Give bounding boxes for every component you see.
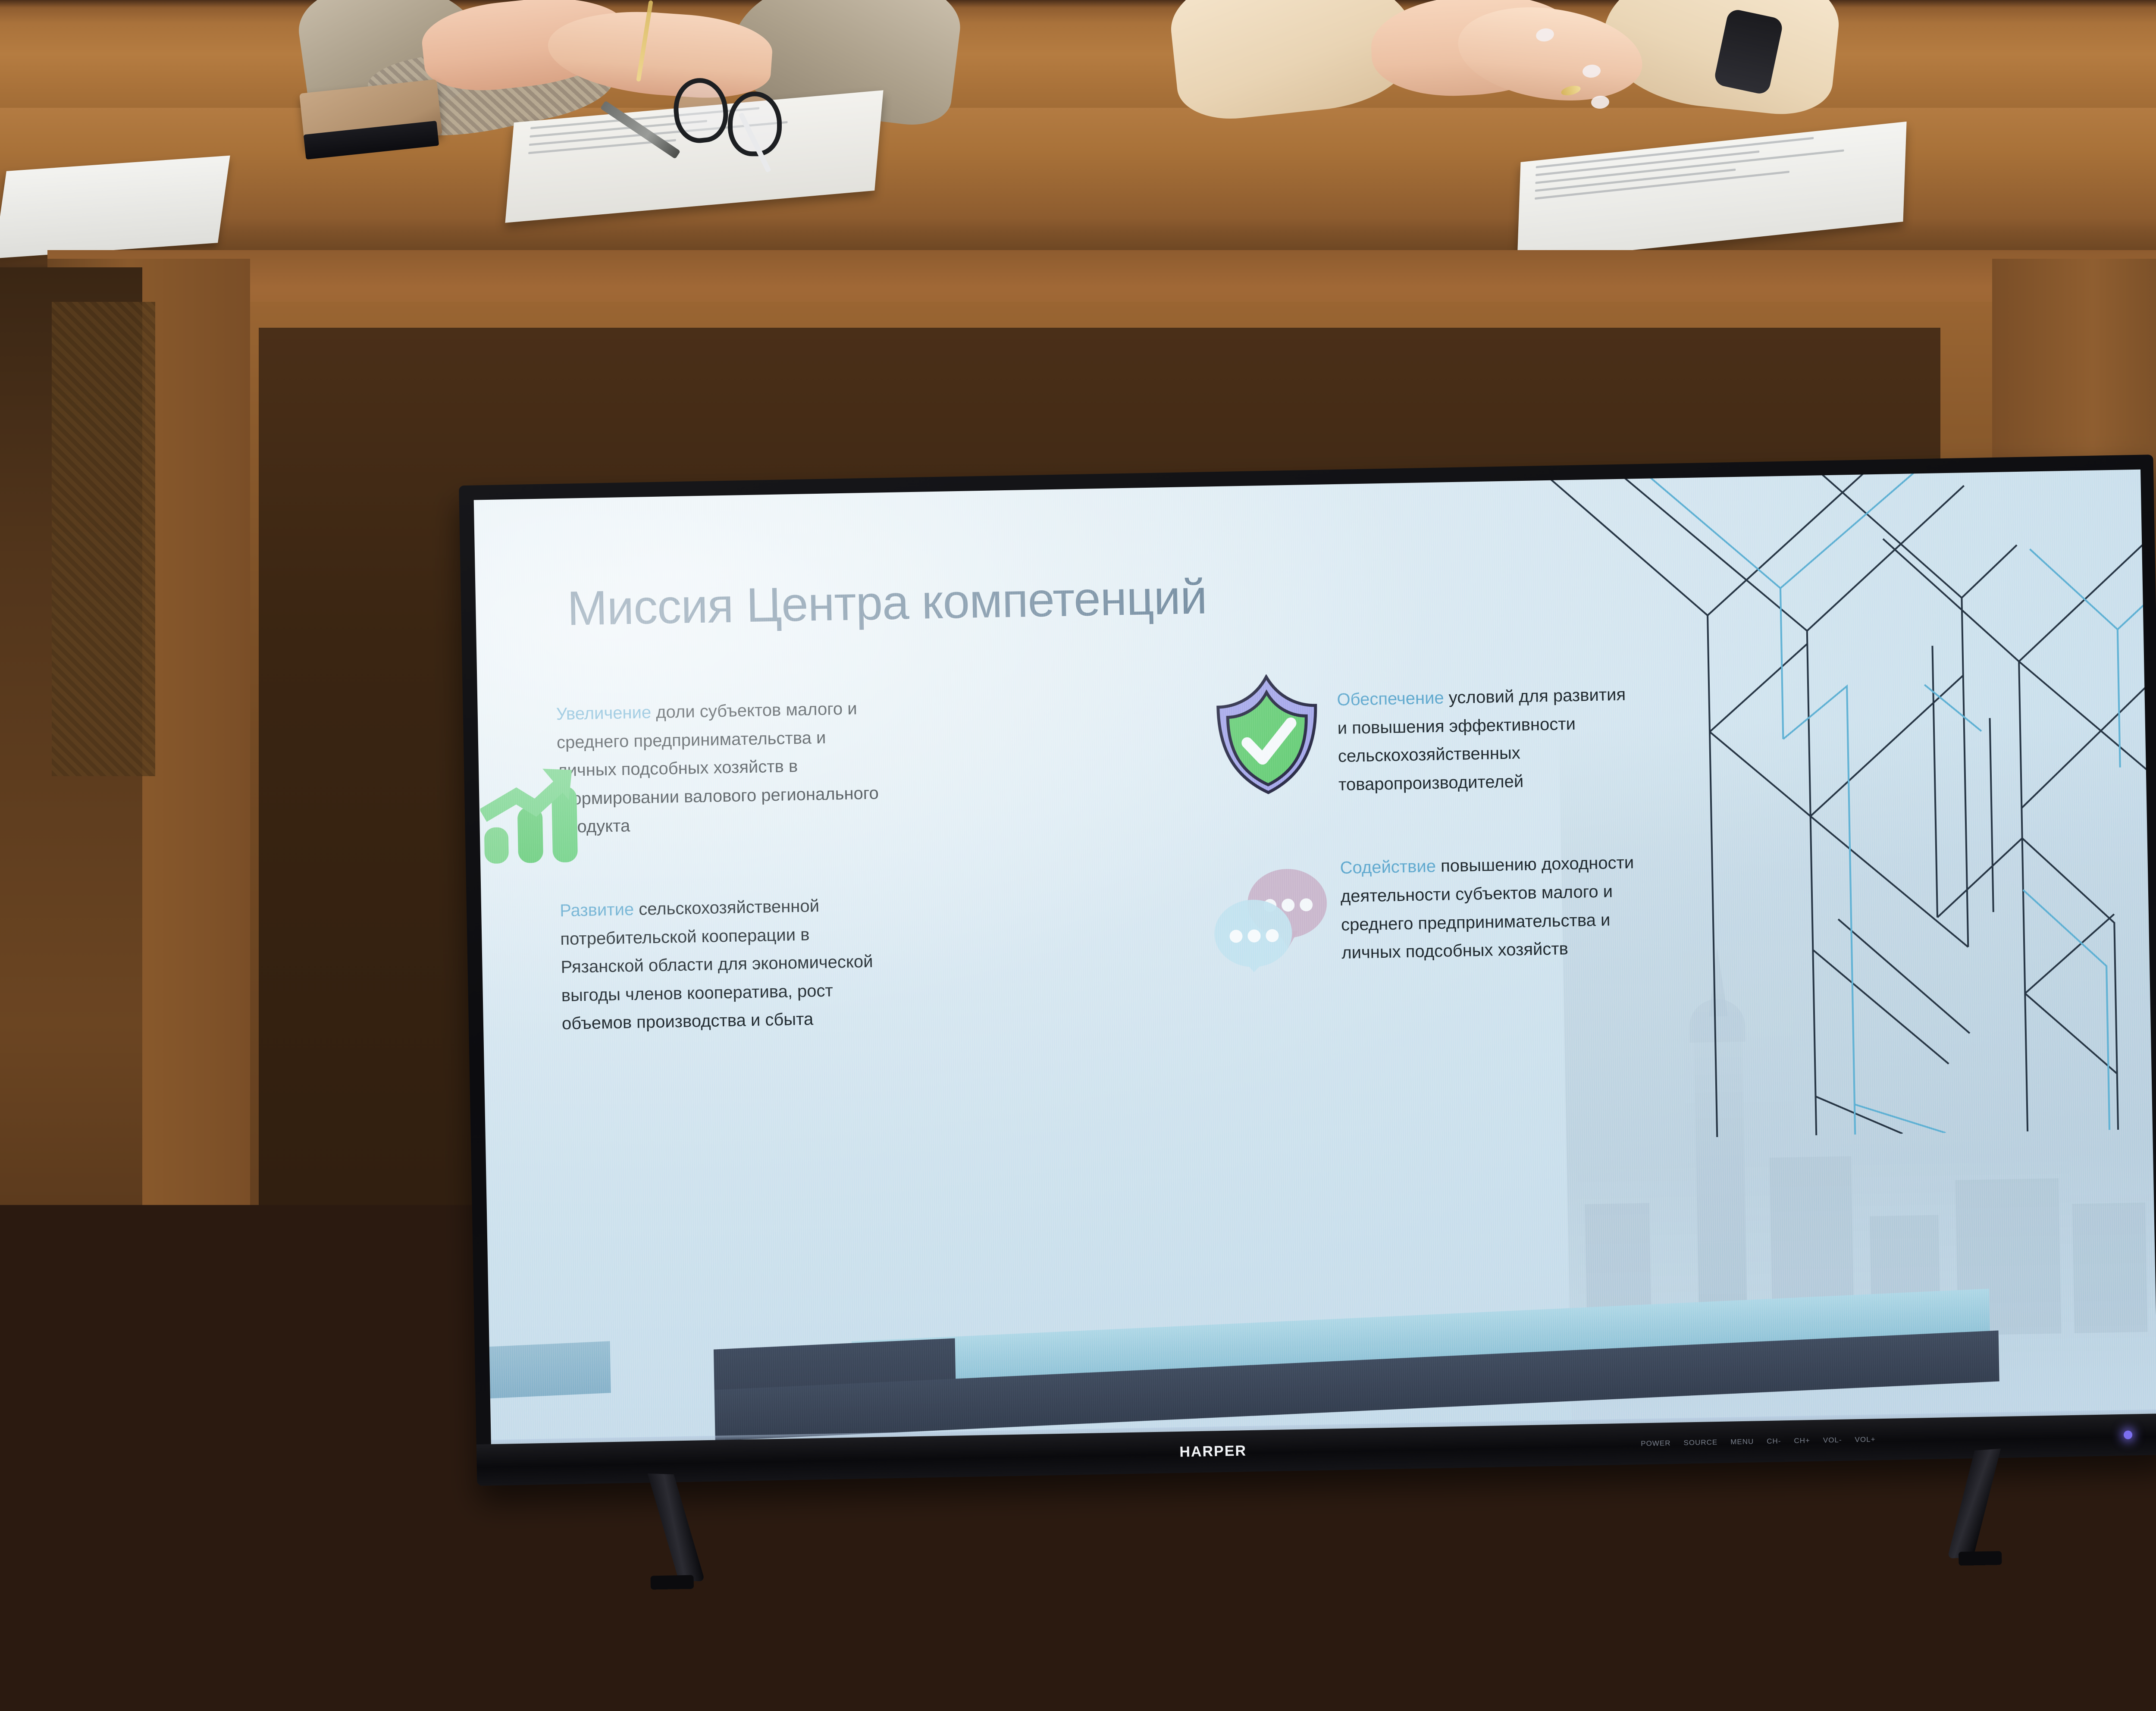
tv-control-vol-up[interactable]: VOL+ (1855, 1435, 1875, 1444)
tv-control-labels[interactable]: POWER SOURCE MENU CH- CH+ VOL- VOL+ (1641, 1435, 1876, 1448)
chat-bubbles-icon (1213, 863, 1331, 973)
television: Миссия Центра компетенций (459, 454, 2156, 1486)
floor-plank-seam (0, 1509, 2156, 1512)
tv-control-ch-up[interactable]: CH+ (1794, 1436, 1810, 1445)
tv-control-menu[interactable]: MENU (1730, 1438, 1754, 1447)
bullet-block-increase: Увеличение доли субъектов малого и средн… (556, 686, 1313, 842)
tv-control-vol-down[interactable]: VOL- (1823, 1436, 1842, 1445)
tv-control-source[interactable]: SOURCE (1683, 1438, 1717, 1447)
bullet-text-increase: Увеличение доли субъектов малого и средн… (556, 694, 886, 842)
bullet-text-provision: Обеспечение условий для развития и повыш… (1337, 680, 1641, 799)
tv-screen[interactable]: Миссия Центра компетенций (474, 470, 2156, 1444)
tv-brand-label: HARPER (1179, 1443, 1247, 1461)
building (2072, 1203, 2147, 1333)
bullet-lead-word: Обеспечение (1337, 688, 1444, 709)
building (1955, 1178, 2062, 1335)
bullet-block-development: Развитие сельскохозяйственной потребител… (560, 883, 1317, 1038)
building (1769, 1156, 1855, 1338)
bullet-block-provision: Обеспечение условий для развития и повыш… (1337, 671, 2146, 799)
tv-control-ch-down[interactable]: CH- (1767, 1437, 1781, 1446)
eyeglasses (669, 75, 806, 170)
bullet-lead-word: Увеличение (556, 703, 651, 724)
eyeglasses-lens-left (671, 75, 731, 145)
bullet-lead-word: Развитие (560, 900, 634, 920)
deco-bar-dark-step (714, 1338, 956, 1426)
document-far-left (0, 156, 230, 259)
deco-bar-left-blue (489, 1341, 611, 1398)
shield-check-icon (1212, 674, 1322, 796)
slide-column-left: Увеличение доли субъектов малого и средн… (477, 686, 1318, 1095)
bullet-lead-word: Содействие (1340, 857, 1436, 877)
presentation-slide: Миссия Центра компетенций (474, 470, 2156, 1444)
bullet-text-assistance: Содействие повышению доходности деятельн… (1340, 849, 1644, 967)
tv-foot-right (1959, 1551, 2002, 1566)
building (1870, 1215, 1941, 1337)
slide-title: Миссия Центра компетенций (567, 569, 1207, 636)
paper-text-line (1535, 171, 1789, 200)
tv-power-led (2124, 1430, 2132, 1439)
growth-bar-chart-icon (479, 741, 593, 864)
scene-photo: Миссия Центра компетенций (0, 0, 2156, 1711)
tv-control-power[interactable]: POWER (1641, 1439, 1671, 1448)
bullet-block-assistance: Содействие повышению доходности деятельн… (1340, 840, 2149, 968)
slide-content-columns: Увеличение доли субъектов малого и средн… (477, 671, 2151, 1095)
bullet-text-development: Развитие сельскохозяйственной потребител… (560, 891, 890, 1038)
building (1585, 1203, 1652, 1342)
slide-column-right: Обеспечение условий для развития и повыш… (1311, 671, 2151, 1080)
cabinet-mesh-panel (52, 302, 155, 776)
tv-foot-left (650, 1575, 694, 1590)
